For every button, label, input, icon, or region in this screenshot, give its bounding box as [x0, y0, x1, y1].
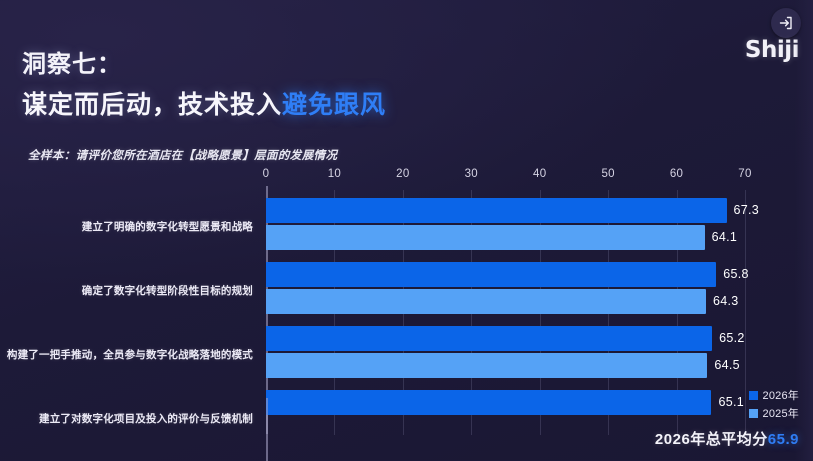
- bar-2026年[interactable]: [266, 390, 711, 415]
- bar-value-label: 64.5: [714, 358, 740, 372]
- x-tick-label: 0: [263, 168, 270, 180]
- legend-item[interactable]: 2025年: [749, 405, 799, 421]
- slide-canvas: Shiji 洞察七： 谋定而后动，技术投入避免跟风 全样本：请评价您所在酒店在【…: [0, 0, 813, 460]
- overall-average: 2026年总平均分65.9: [655, 428, 799, 449]
- enter-fullscreen-button[interactable]: [771, 8, 801, 38]
- category-label: 确定了数字化转型阶段性目标的规划: [82, 283, 253, 298]
- bar-value-label: 65.8: [723, 267, 749, 281]
- subtitle-accent: 避免跟风: [282, 91, 386, 119]
- shiji-logo: Shiji: [745, 37, 799, 63]
- category-label: 建立了对数字化项目及投入的评价与反馈机制: [39, 411, 253, 426]
- subtitle-plain: 谋定而后动，技术投入: [22, 91, 282, 119]
- legend-label: 2026年: [763, 387, 799, 403]
- bar-value-label: 64.3: [713, 294, 739, 308]
- sample-note: 全样本：请评价您所在酒店在【战略愿景】层面的发展情况: [28, 147, 337, 163]
- category-label: 构建了一把手推动，全员参与数字化战略落地的模式: [7, 347, 253, 362]
- bar-group: 构建了一把手推动，全员参与数字化战略落地的模式65.264.5: [0, 326, 800, 378]
- bar-chart: 010203040506070 建立了明确的数字化转型愿景和战略67.364.1…: [0, 168, 800, 460]
- bar-2026年[interactable]: [266, 198, 727, 223]
- x-tick-label: 50: [601, 168, 614, 180]
- bar-2025年[interactable]: [266, 225, 705, 250]
- x-tick-label: 30: [465, 168, 478, 180]
- x-tick-label: 10: [328, 168, 341, 180]
- category-label: 建立了明确的数字化转型愿景和战略: [82, 219, 253, 234]
- brand-area: Shiji: [739, 4, 803, 74]
- bar-2025年[interactable]: [266, 289, 706, 314]
- chart-legend: 2026年2025年: [749, 387, 799, 421]
- bar-2026年[interactable]: [266, 326, 712, 351]
- bar-2026年[interactable]: [266, 262, 716, 287]
- page-subtitle: 谋定而后动，技术投入避免跟风: [22, 85, 386, 121]
- x-axis-ticks: 010203040506070: [0, 168, 800, 188]
- x-tick-label: 40: [533, 168, 546, 180]
- login-arrow-icon: [778, 15, 794, 31]
- bar-value-label: 65.1: [718, 395, 744, 409]
- x-tick-label: 20: [396, 168, 409, 180]
- bar-group: 确定了数字化转型阶段性目标的规划65.864.3: [0, 262, 800, 314]
- legend-item[interactable]: 2026年: [749, 387, 799, 403]
- x-tick-label: 60: [670, 168, 683, 180]
- axis-marker: [266, 398, 268, 434]
- plot-area: 建立了明确的数字化转型愿景和战略67.364.1确定了数字化转型阶段性目标的规划…: [0, 190, 800, 435]
- legend-swatch-icon: [749, 409, 758, 418]
- x-tick-label: 70: [738, 168, 751, 180]
- overall-average-score: 65.9: [768, 431, 799, 448]
- page-title: 洞察七：: [22, 44, 122, 79]
- legend-label: 2025年: [763, 405, 799, 421]
- bar-value-label: 67.3: [734, 203, 760, 217]
- bar-group: 建立了明确的数字化转型愿景和战略67.364.1: [0, 198, 800, 250]
- bar-2025年[interactable]: [266, 353, 707, 378]
- bar-value-label: 65.2: [719, 331, 745, 345]
- legend-swatch-icon: [749, 391, 758, 400]
- overall-average-label: 2026年总平均分: [655, 431, 768, 448]
- bar-value-label: 64.1: [712, 230, 738, 244]
